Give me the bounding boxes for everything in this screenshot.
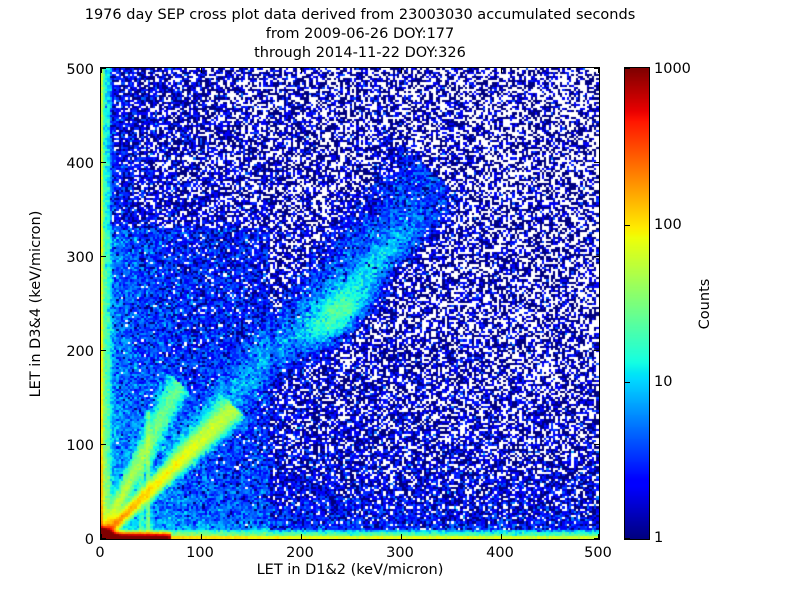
ytick-right-400 <box>594 162 599 163</box>
ytick-right-100 <box>594 444 599 445</box>
xtick-top-100 <box>201 68 202 73</box>
xticklabel-0: 0 <box>95 545 104 561</box>
ytick-100 <box>101 444 106 445</box>
colorbar-gradient <box>625 68 649 539</box>
xticklabel-100: 100 <box>186 545 214 561</box>
yticklabel-300: 300 <box>52 250 94 266</box>
xticklabel-200: 200 <box>286 545 314 561</box>
xtick-100 <box>201 534 202 539</box>
ytick-right-500 <box>594 68 599 69</box>
cbar-ticklabel-1: 1 <box>654 530 663 546</box>
ytick-right-300 <box>594 256 599 257</box>
x-axis-label: LET in D1&2 (keV/micron) <box>100 562 600 578</box>
yticklabel-400: 400 <box>52 156 94 172</box>
chart-title-line-2: from 2009-06-26 DOY:177 <box>0 25 720 44</box>
cbar-ticklabel-1000: 1000 <box>654 61 691 77</box>
plot-area <box>100 67 600 540</box>
xtick-400 <box>501 534 502 539</box>
xticklabel-300: 300 <box>386 545 414 561</box>
ytick-0 <box>101 538 106 539</box>
xtick-200 <box>301 534 302 539</box>
y-axis-label-wrap: LET in D3&4 (keV/micron) <box>26 67 46 540</box>
xtick-top-300 <box>401 68 402 73</box>
yticklabel-0: 0 <box>52 532 94 548</box>
yticklabel-500: 500 <box>52 62 94 78</box>
xticklabel-500: 500 <box>584 545 612 561</box>
colorbar-label: Counts <box>697 278 713 329</box>
ytick-right-200 <box>594 350 599 351</box>
chart-title-line-3: through 2014-11-22 DOY:326 <box>0 44 720 63</box>
cbar-ticklabel-100: 100 <box>654 217 682 233</box>
cbar-tick-100 <box>625 225 630 226</box>
chart-title: 1976 day SEP cross plot data derived fro… <box>0 6 720 63</box>
colorbar <box>624 67 650 540</box>
y-axis-label: LET in D3&4 (keV/micron) <box>28 210 44 397</box>
cbar-tick-1000 <box>625 68 630 69</box>
ytick-300 <box>101 256 106 257</box>
cbar-tick-10 <box>625 382 630 383</box>
yticklabel-100: 100 <box>52 438 94 454</box>
xticklabel-400: 400 <box>486 545 514 561</box>
ytick-400 <box>101 162 106 163</box>
xtick-300 <box>401 534 402 539</box>
cbar-tick-1 <box>625 538 630 539</box>
ytick-right-0 <box>594 538 599 539</box>
scatter-heatmap-canvas <box>101 68 599 539</box>
yticklabel-200: 200 <box>52 344 94 360</box>
cbar-ticklabel-10: 10 <box>654 374 672 390</box>
xtick-top-400 <box>501 68 502 73</box>
figure-root: 1976 day SEP cross plot data derived fro… <box>0 0 800 600</box>
ytick-500 <box>101 68 106 69</box>
ytick-200 <box>101 350 106 351</box>
colorbar-label-wrap: Counts <box>694 67 716 540</box>
chart-title-line-1: 1976 day SEP cross plot data derived fro… <box>0 6 720 25</box>
xtick-top-200 <box>301 68 302 73</box>
